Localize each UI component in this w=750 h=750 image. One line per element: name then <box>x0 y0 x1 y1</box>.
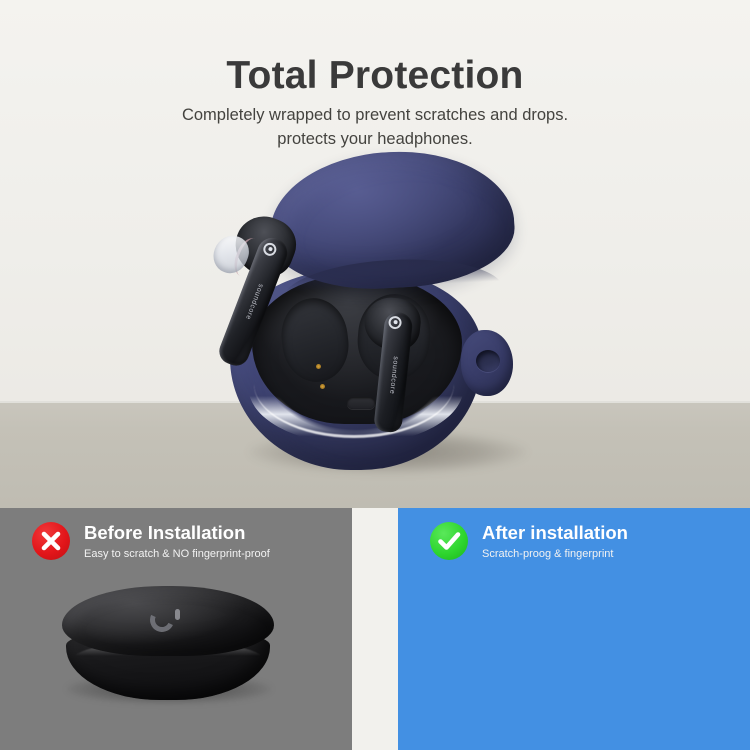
after-installation-panel: After installation Scratch-proog & finge… <box>398 508 750 750</box>
before-installation-panel: Before Installation Easy to scratch & NO… <box>0 508 352 750</box>
page-title: Total Protection <box>0 54 750 98</box>
product-hero-image: soundcore soundcore <box>208 152 560 482</box>
logo-arc <box>147 605 178 636</box>
x-mark-icon <box>32 522 70 560</box>
product-feature-graphic: Total Protection Completely wrapped to p… <box>0 0 750 750</box>
after-installation-title: After installation <box>482 522 628 544</box>
before-installation-subtitle: Easy to scratch & NO fingerprint-proof <box>84 548 270 560</box>
before-installation-title: Before Installation <box>84 522 245 544</box>
bare-case-image <box>58 586 280 702</box>
soundcore-logo-icon <box>150 608 174 632</box>
after-installation-subtitle: Scratch-proog & fingerprint <box>482 548 613 560</box>
page-subtitle: Completely wrapped to prevent scratches … <box>105 103 645 151</box>
hero-section: Total Protection Completely wrapped to p… <box>0 0 750 508</box>
carabiner-loop-hole <box>476 350 500 372</box>
logo-dot <box>175 609 180 620</box>
check-mark-icon <box>430 522 468 560</box>
page-subtitle-line-1: Completely wrapped to prevent scratches … <box>182 106 568 124</box>
page-subtitle-line-2: protects your headphones. <box>277 130 472 148</box>
